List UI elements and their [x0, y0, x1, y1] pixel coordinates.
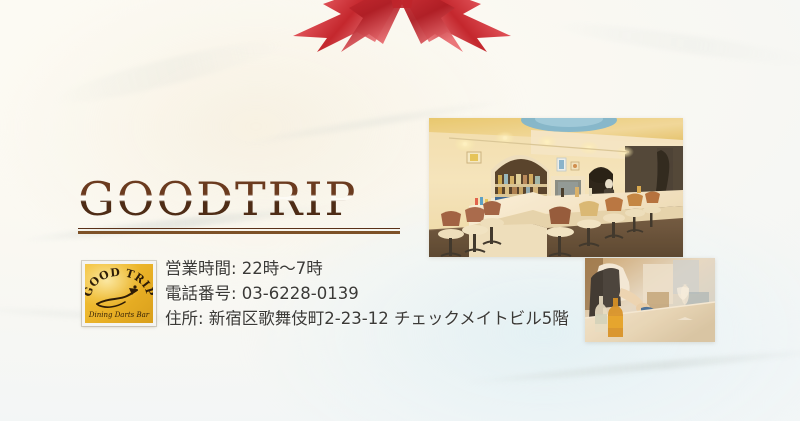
bar-interior-photo — [429, 118, 683, 257]
brand-wordmark: GOODTRIP — [78, 176, 408, 234]
badge-logo-icon: GOOD TRIP Dining Darts Bar — [85, 268, 153, 320]
shop-info-block: 営業時間: 22時〜7時 電話番号: 03-6228-0139 住所: 新宿区歌… — [165, 256, 569, 331]
info-line-phone: 電話番号: 03-6228-0139 — [165, 281, 569, 306]
brand-wordmark-rule — [78, 228, 400, 234]
bartender-photo — [585, 258, 715, 342]
logo-badge: GOOD TRIP Dining Darts Bar — [82, 261, 156, 326]
info-line-address: 住所: 新宿区歌舞伎町2-23-12 チェックメイトビル5階 — [165, 306, 569, 331]
badge-content: GOOD TRIP Dining Darts Bar — [85, 264, 153, 323]
brand-wordmark-text: GOODTRIP — [78, 176, 408, 222]
info-line-hours: 営業時間: 22時〜7時 — [165, 256, 569, 281]
svg-text:Dining Darts Bar: Dining Darts Bar — [88, 311, 150, 319]
banner-canvas: GOODTRIP GOOD TRIP Dining Darts Bar — [0, 0, 800, 421]
ribbon-bow-icon — [283, 0, 521, 58]
svg-text:GOOD TRIP: GOOD TRIP — [85, 268, 153, 298]
